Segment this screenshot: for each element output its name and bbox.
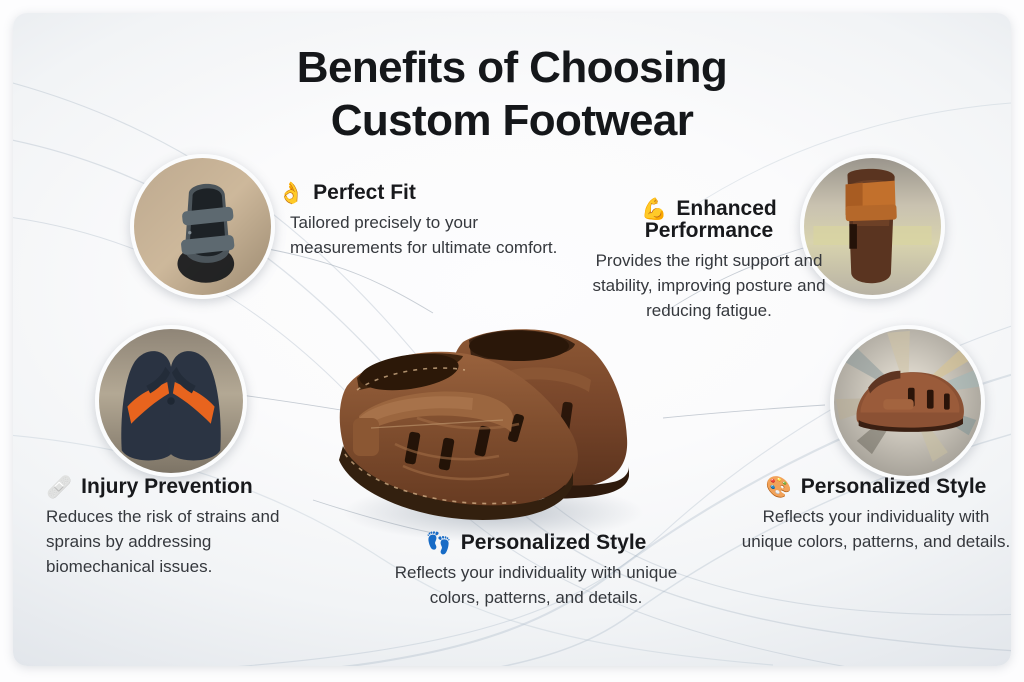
benefit-heading-perfect-fit: 👌 Perfect Fit [278, 181, 578, 205]
photo-midright-art [834, 329, 981, 476]
benefit-title-perfect-fit: Perfect Fit [313, 181, 416, 205]
benefit-title-performance: Performance [573, 219, 845, 243]
benefit-body-personalized-style-right: Reflects your individuality with unique … [735, 504, 1011, 554]
photo-navy-orange-flip-flops [95, 325, 247, 477]
headline-line-1: Benefits of Choosing [297, 43, 727, 92]
headline-line-2: Custom Footwear [331, 96, 694, 145]
infographic-card: Benefits of Choosing Custom Footwear [13, 13, 1011, 666]
ok-hand-icon: 👌 [278, 183, 304, 204]
benefit-heading-personalized-style-center: 👣 Personalized Style [371, 531, 701, 555]
benefit-block-personalized-style-center: 👣 Personalized Style Reflects your indiv… [371, 531, 701, 610]
page-title: Benefits of Choosing Custom Footwear [13, 41, 1011, 147]
benefit-title-enhanced: Enhanced [676, 197, 776, 221]
photo-brown-leather-closed-sandal [830, 325, 985, 480]
benefit-block-enhanced-performance: 💪 Enhanced Performance Provides the righ… [573, 197, 845, 323]
benefit-title-personalized-style-center: Personalized Style [461, 531, 647, 555]
photo-gray-two-strap-sandal [130, 154, 275, 299]
infographic-canvas: Benefits of Choosing Custom Footwear [0, 0, 1024, 682]
benefit-heading-personalized-style-right: 🎨 Personalized Style [735, 475, 1011, 499]
benefit-title-injury-prevention: Injury Prevention [81, 475, 253, 499]
benefit-block-injury-prevention: 🩹 Injury Prevention Reduces the risk of … [46, 475, 318, 579]
benefit-body-perfect-fit: Tailored precisely to your measurements … [278, 210, 578, 260]
benefit-heading-injury-prevention: 🩹 Injury Prevention [46, 475, 318, 499]
benefit-heading-enhanced-performance: 💪 Enhanced [573, 197, 845, 221]
photo-midleft-art [99, 329, 243, 473]
benefit-body-personalized-style-center: Reflects your individuality with unique … [371, 560, 701, 610]
artist-palette-icon: 🎨 [766, 477, 792, 498]
benefit-title-personalized-style-right: Personalized Style [801, 475, 987, 499]
benefit-block-personalized-style-right: 🎨 Personalized Style Reflects your indiv… [735, 475, 1011, 554]
photo-topleft-art [134, 158, 271, 295]
footprints-icon: 👣 [426, 533, 452, 554]
benefit-body-injury-prevention: Reduces the risk of strains and sprains … [46, 504, 318, 579]
benefit-body-enhanced-performance: Provides the right support and stability… [573, 248, 845, 323]
flexed-biceps-icon: 💪 [641, 199, 667, 220]
benefit-block-perfect-fit: 👌 Perfect Fit Tailored precisely to your… [278, 181, 578, 260]
adhesive-bandage-icon: 🩹 [46, 477, 72, 498]
